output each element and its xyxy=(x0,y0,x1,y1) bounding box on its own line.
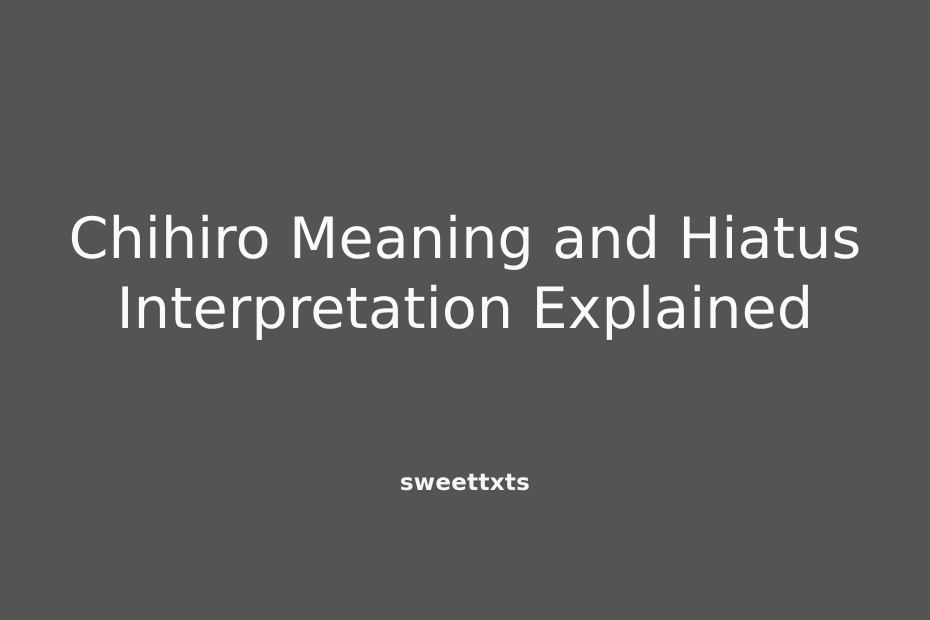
page-title: Chihiro Meaning and Hiatus Interpretatio… xyxy=(0,204,930,344)
site-brand-label: sweettxts xyxy=(400,468,530,498)
title-card: Chihiro Meaning and Hiatus Interpretatio… xyxy=(0,0,930,620)
page-title-line-2: Interpretation Explained xyxy=(0,274,930,344)
byline-container: sweettxts xyxy=(0,468,930,498)
page-title-line-1: Chihiro Meaning and Hiatus xyxy=(0,204,930,274)
